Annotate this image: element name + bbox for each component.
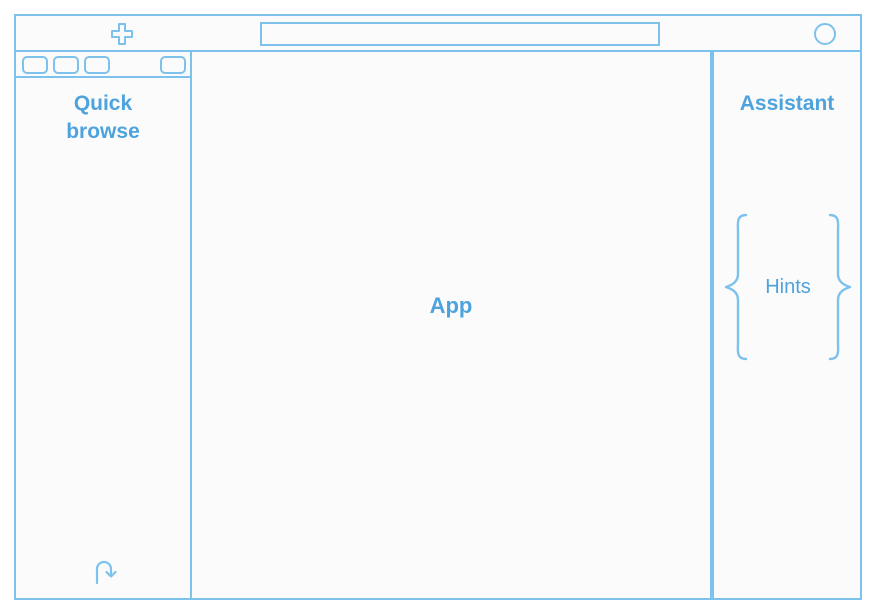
sidebar-tool-1[interactable] xyxy=(22,56,48,74)
assistant-panel: Assistant Hints xyxy=(712,52,860,598)
sidebar-tool-collapse[interactable] xyxy=(160,56,186,74)
top-bar xyxy=(16,16,860,52)
content-row: Quick browse App Assistant xyxy=(16,52,860,598)
sidebar-footer xyxy=(16,552,190,592)
quick-browse-sidebar: Quick browse xyxy=(16,52,192,598)
app-main-panel[interactable]: App xyxy=(192,52,712,598)
add-button[interactable] xyxy=(100,20,144,48)
sidebar-toolbar xyxy=(16,52,190,78)
hints-group: Hints xyxy=(722,212,854,362)
u-turn-back-icon[interactable] xyxy=(90,556,120,586)
hints-label: Hints xyxy=(722,212,854,362)
plus-icon xyxy=(110,22,134,46)
app-panel-label: App xyxy=(430,293,473,319)
sidebar-tool-2[interactable] xyxy=(53,56,79,74)
wireframe-window: Quick browse App Assistant xyxy=(14,14,862,600)
account-circle-icon[interactable] xyxy=(814,23,836,45)
sidebar-title: Quick browse xyxy=(16,90,190,147)
search-input[interactable] xyxy=(260,22,660,46)
assistant-title: Assistant xyxy=(714,92,860,116)
sidebar-tool-3[interactable] xyxy=(84,56,110,74)
